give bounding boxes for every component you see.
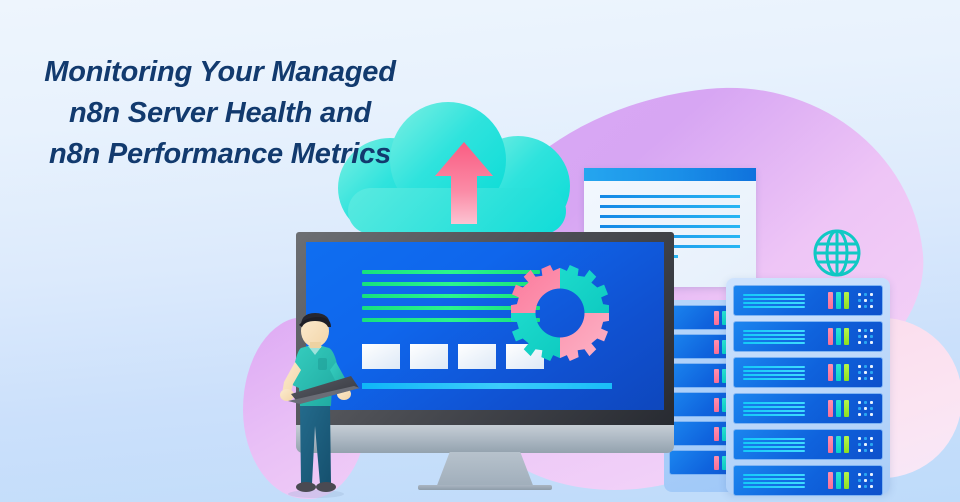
server-unit [733,393,883,424]
server-unit [733,465,883,496]
dashboard-tile [458,344,496,369]
server-unit-lines [743,474,805,488]
document-text-line [600,225,740,228]
server-unit-lines [743,294,805,308]
led-matrix [858,293,873,308]
globe-icon [810,226,864,280]
page-title-line-3: n8n Performance Metrics [0,134,440,175]
status-bars [828,436,849,453]
gear-icon [511,264,609,362]
server-unit [733,429,883,460]
upload-arrow-icon [434,140,494,224]
person-with-laptop [268,308,364,498]
server-rack-large [726,278,890,494]
status-bars [828,364,849,381]
led-matrix [858,401,873,416]
dashboard-tile [362,344,400,369]
page-title: Monitoring Your Managed n8n Server Healt… [0,52,440,176]
document-text-line [600,205,740,208]
page-title-line-2: n8n Server Health and [0,93,440,134]
led-matrix [858,365,873,380]
server-unit-lines [743,366,805,380]
page-title-line-1: Monitoring Your Managed [0,52,440,93]
server-unit-lines [743,438,805,452]
server-unit-lines [743,402,805,416]
dashboard-tile [410,344,448,369]
led-matrix [858,437,873,452]
led-matrix [858,473,873,488]
document-titlebar [584,168,756,181]
server-unit [733,357,883,388]
banner-root: Monitoring Your Managed n8n Server Healt… [0,0,960,502]
monitor-foot [418,485,552,490]
document-text-line [600,195,740,198]
dashboard-progress-bar [362,383,612,389]
server-unit [733,285,883,316]
status-bars [828,292,849,309]
status-bars [828,328,849,345]
server-unit-lines [743,330,805,344]
led-matrix [858,329,873,344]
status-bars [828,400,849,417]
document-text-line [600,215,740,218]
status-bars [828,472,849,489]
server-unit [733,321,883,352]
monitor-stand [436,452,534,488]
